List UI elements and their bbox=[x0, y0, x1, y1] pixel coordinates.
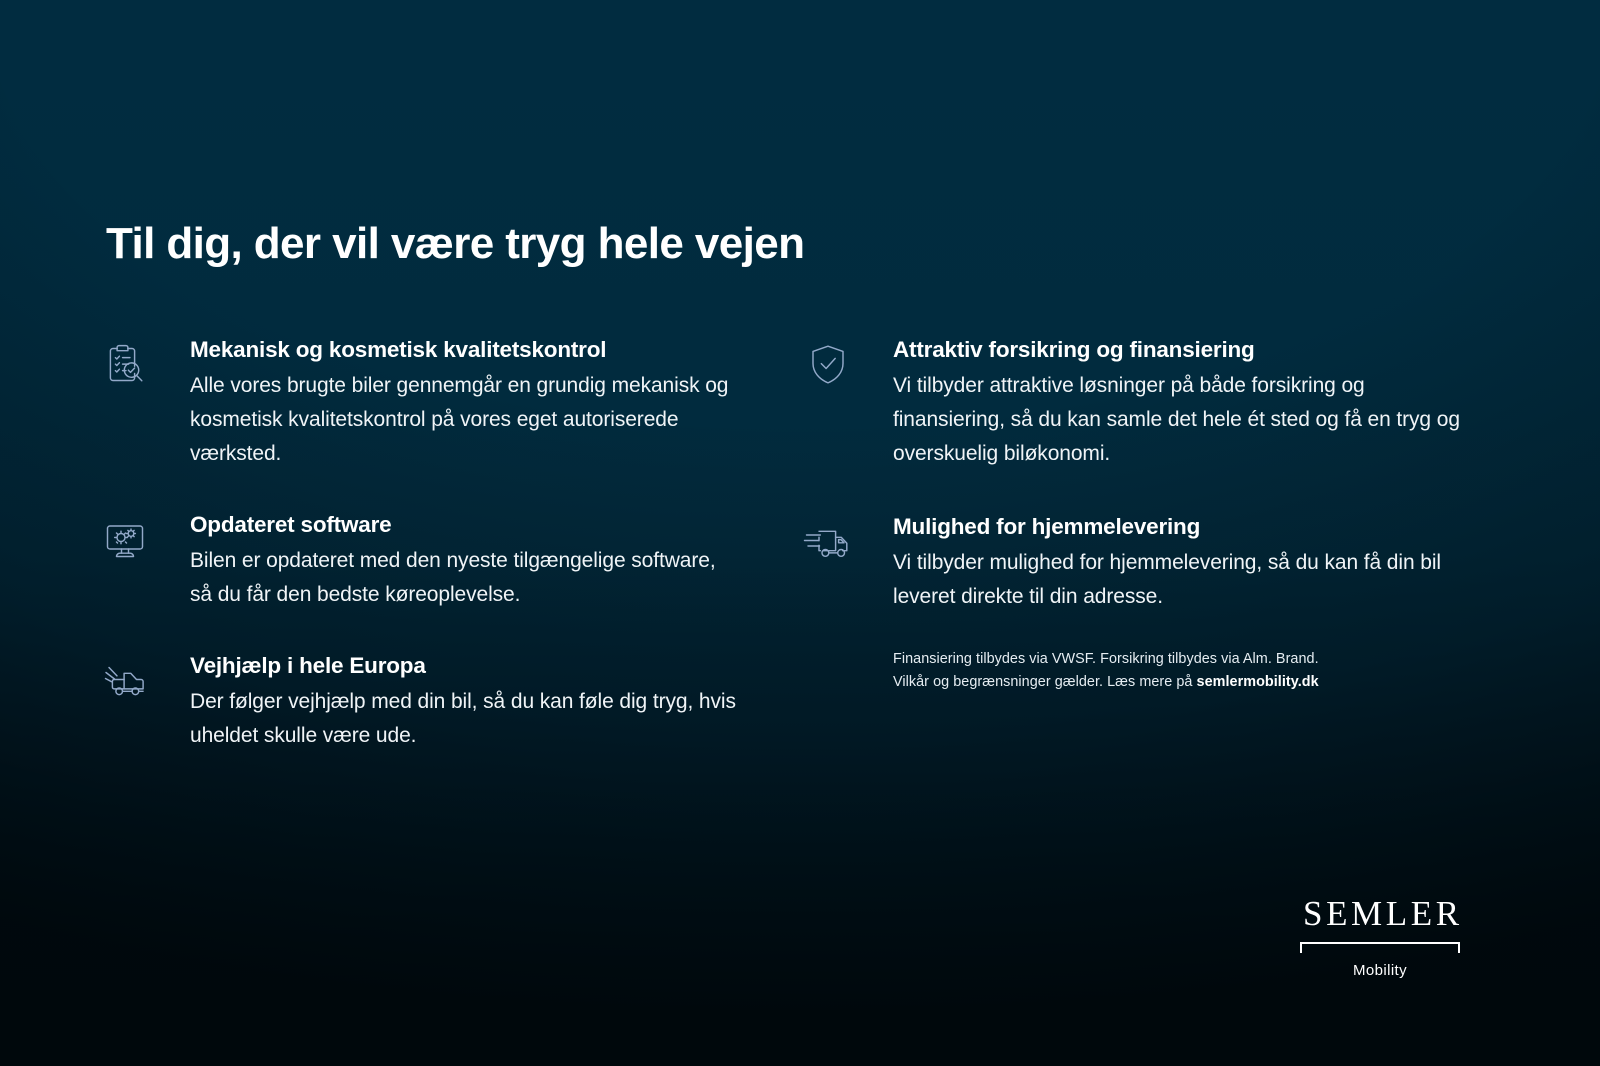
feature-title: Vejhjælp i hele Europa bbox=[190, 652, 740, 679]
monitor-gears-icon bbox=[100, 515, 160, 573]
shield-check-icon bbox=[803, 340, 863, 398]
disclaimer-line-2: Vilkår og begrænsninger gælder. Læs mere… bbox=[893, 671, 1363, 694]
feature-title: Opdateret software bbox=[190, 511, 740, 538]
semlermobility-link[interactable]: semlermobility.dk bbox=[1197, 674, 1319, 690]
feature-body: Alle vores brugte biler gennemgår en gru… bbox=[190, 369, 740, 471]
tow-truck-icon bbox=[100, 656, 160, 714]
feature-updated-software: Opdateret software Bilen er opdateret me… bbox=[100, 511, 740, 612]
feature-home-delivery: Mulighed for hjemmelevering Vi tilbyder … bbox=[803, 513, 1463, 614]
feature-title: Mekanisk og kosmetisk kvalitetskontrol bbox=[190, 336, 740, 363]
disclaimer-line-2-prefix: Vilkår og begrænsninger gælder. Læs mere… bbox=[893, 674, 1197, 690]
features-column-left: Mekanisk og kosmetisk kvalitetskontrol A… bbox=[100, 336, 740, 787]
feature-roadside-assistance: Vejhjælp i hele Europa Der følger vejhjæ… bbox=[100, 652, 740, 753]
feature-body: Der følger vejhjælp med din bil, så du k… bbox=[190, 685, 740, 753]
clipboard-checklist-magnifier-icon bbox=[100, 340, 160, 398]
feature-quality-control: Mekanisk og kosmetisk kvalitetskontrol A… bbox=[100, 336, 740, 471]
feature-body: Vi tilbyder mulighed for hjemmelevering,… bbox=[893, 546, 1463, 614]
delivery-truck-icon bbox=[803, 517, 863, 575]
feature-title: Mulighed for hjemmelevering bbox=[893, 513, 1463, 540]
logo-subtitle: Mobility bbox=[1300, 962, 1460, 979]
feature-body: Bilen er opdateret med den nyeste tilgæn… bbox=[190, 544, 740, 612]
disclaimer-text: Finansiering tilbydes via VWSF. Forsikri… bbox=[893, 648, 1363, 694]
semler-mobility-logo: SEMLER Mobility bbox=[1300, 896, 1460, 979]
features-column-right: Attraktiv forsikring og finansiering Vi … bbox=[803, 336, 1463, 694]
disclaimer-line-1: Finansiering tilbydes via VWSF. Forsikri… bbox=[893, 648, 1363, 671]
logo-rule bbox=[1300, 942, 1460, 953]
promo-poster: Til dig, der vil være tryg hele vejen bbox=[0, 0, 1600, 1066]
logo-wordmark: SEMLER bbox=[1300, 896, 1460, 931]
page-title: Til dig, der vil være tryg hele vejen bbox=[106, 219, 804, 269]
feature-insurance-financing: Attraktiv forsikring og finansiering Vi … bbox=[803, 336, 1463, 471]
feature-title: Attraktiv forsikring og finansiering bbox=[893, 336, 1463, 363]
feature-body: Vi tilbyder attraktive løsninger på både… bbox=[893, 369, 1463, 471]
